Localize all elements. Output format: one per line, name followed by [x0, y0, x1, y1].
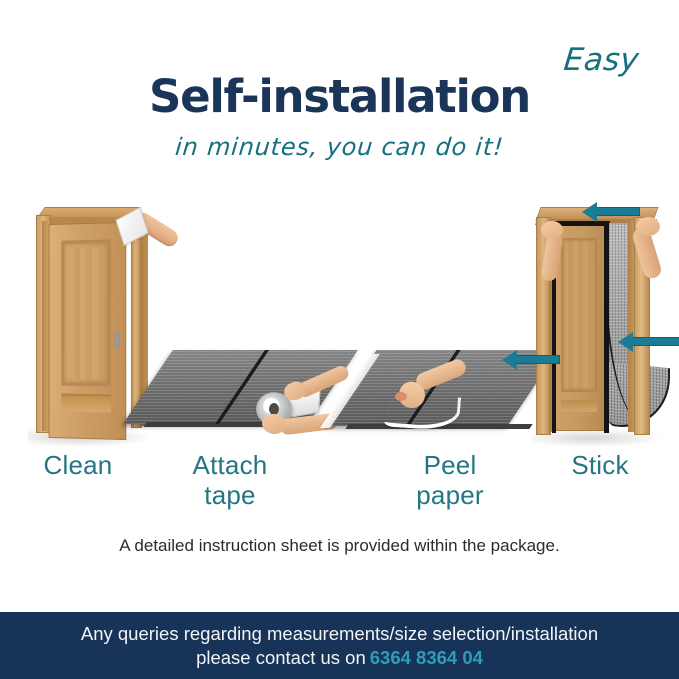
step-label-line2: paper	[390, 480, 510, 510]
door-bottom-rail	[61, 394, 111, 413]
step-label-attach-tape: Attach tape	[170, 450, 290, 510]
subtitle: in minutes, you can do it!	[0, 133, 679, 161]
banner-contact-prefix: please contact us on	[196, 647, 366, 668]
contact-phone-number[interactable]: 6364 8364 04	[370, 647, 483, 668]
door-bottom-rail	[561, 400, 597, 412]
illustration-stick-mesh	[528, 195, 678, 453]
step-label-line2: tape	[170, 480, 290, 510]
hand-thumb	[395, 392, 407, 401]
step-label-peel-paper: Peel paper	[390, 450, 510, 510]
door-inset-panel	[61, 239, 111, 386]
hand-pressing-right	[624, 217, 678, 283]
banner-line-2: please contact us on6364 8364 04	[196, 646, 483, 670]
door-handle-icon	[115, 332, 119, 348]
arrow-left-icon-middle-right	[632, 337, 679, 346]
step-label-stick: Stick	[540, 450, 660, 480]
arrow-left-icon-top	[596, 207, 640, 216]
banner-line-1: Any queries regarding measurements/size …	[81, 622, 598, 646]
hand-pressing-left	[542, 221, 576, 283]
page-title: Self-installation	[0, 70, 679, 123]
step-label-line1: Stick	[571, 450, 628, 480]
step-label-line1: Attach	[193, 450, 268, 480]
hand-wiping-frame	[118, 213, 172, 271]
door-panel-grain	[68, 247, 104, 380]
infographic-page: Easy Self-installation in minutes, you c…	[0, 0, 679, 679]
step-labels: Clean Attach tape Peel paper Stick	[0, 450, 679, 522]
header: Easy Self-installation in minutes, you c…	[0, 0, 679, 180]
arrow-left-icon-middle-left	[516, 355, 560, 364]
illustration-attach-tape	[148, 350, 343, 455]
wooden-door-leaf	[49, 222, 127, 440]
step-label-line1: Clean	[44, 450, 113, 480]
step-label-line1: Peel	[424, 450, 477, 480]
mesh-center-split	[604, 221, 609, 433]
hand-fist-right	[636, 217, 660, 236]
instruction-note: A detailed instruction sheet is provided…	[0, 536, 679, 556]
hand-holding-tape-upper	[276, 372, 346, 404]
illustration-stage	[0, 185, 679, 455]
contact-banner: Any queries regarding measurements/size …	[0, 610, 679, 679]
hand-peeling-paper	[397, 366, 467, 416]
forearm-left	[540, 232, 563, 282]
step-label-clean: Clean	[18, 450, 138, 480]
hand-fist-left	[541, 221, 563, 239]
